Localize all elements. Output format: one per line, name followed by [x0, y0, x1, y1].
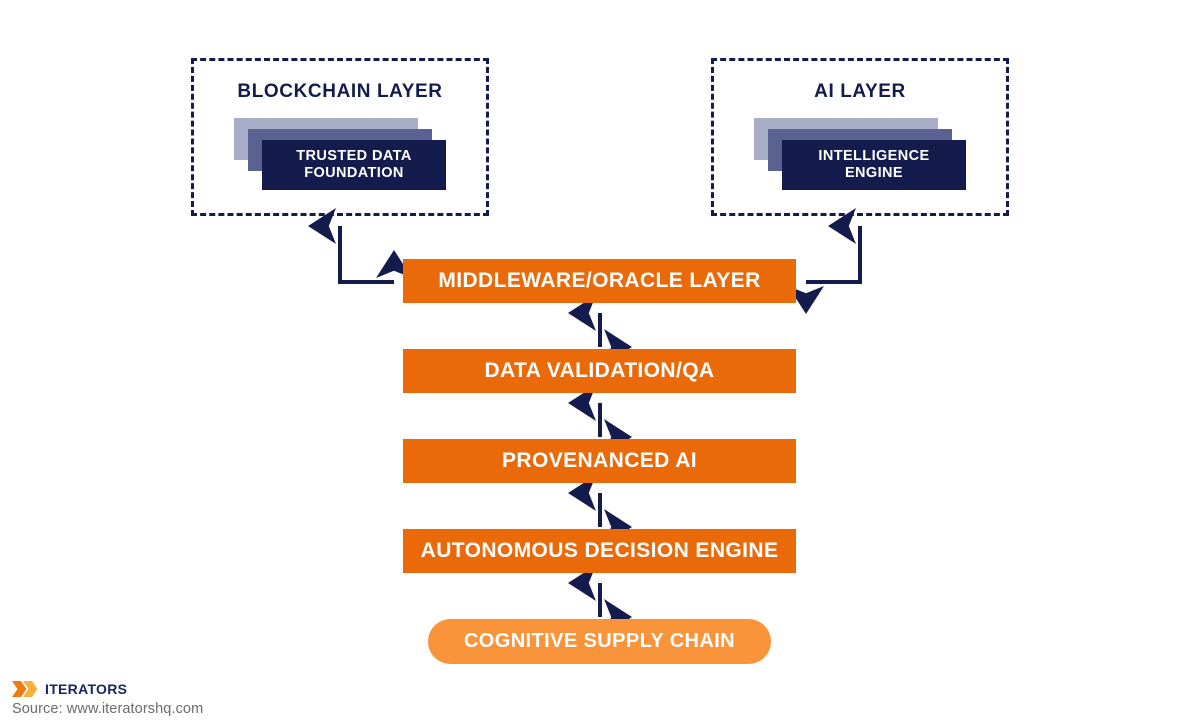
flow-box-provenanced-ai[interactable]: PROVENANCED AI	[403, 439, 796, 483]
flow-box-label: AUTONOMOUS DECISION ENGINE	[421, 539, 779, 563]
footer: ITERATORS Source: www.iteratorshq.com	[12, 679, 332, 717]
ai-card-stack: INTELLIGENCEENGINE	[754, 118, 966, 196]
trusted-data-foundation-card: TRUSTED DATAFOUNDATION	[262, 140, 446, 190]
flow-box-middleware-oracle-layer[interactable]: MIDDLEWARE/ORACLE LAYER	[403, 259, 796, 303]
flow-box-label: DATA VALIDATION/QA	[484, 359, 714, 383]
double-chevron-icon	[12, 680, 38, 698]
brand-name: ITERATORS	[45, 681, 127, 697]
connector-ai-to-middleware	[806, 226, 862, 284]
connector-blockchain-to-middleware	[338, 226, 394, 284]
ai-layer-group: AI LAYER INTELLIGENCEENGINE	[711, 58, 1009, 216]
intelligence-engine-label: INTELLIGENCEENGINE	[818, 148, 929, 182]
trusted-data-foundation-label: TRUSTED DATAFOUNDATION	[296, 148, 411, 182]
blockchain-layer-group: BLOCKCHAIN LAYER TRUSTED DATAFOUNDATION	[191, 58, 489, 216]
ai-layer-title: AI LAYER	[714, 81, 1006, 103]
diagram-canvas: BLOCKCHAIN LAYER TRUSTED DATAFOUNDATION …	[0, 0, 1200, 725]
flow-box-label: COGNITIVE SUPPLY CHAIN	[464, 630, 735, 653]
card-line-2: FOUNDATION	[304, 165, 404, 181]
flow-box-autonomous-decision-engine[interactable]: AUTONOMOUS DECISION ENGINE	[403, 529, 796, 573]
card-line-1: TRUSTED DATA	[296, 148, 411, 164]
blockchain-layer-title: BLOCKCHAIN LAYER	[194, 81, 486, 103]
intelligence-engine-card: INTELLIGENCEENGINE	[782, 140, 966, 190]
card-line-2: ENGINE	[845, 165, 903, 181]
brand-logo: ITERATORS	[12, 679, 332, 699]
card-line-1: INTELLIGENCE	[818, 148, 929, 164]
flow-box-cognitive-supply-chain[interactable]: COGNITIVE SUPPLY CHAIN	[428, 619, 771, 664]
flow-box-data-validation-qa[interactable]: DATA VALIDATION/QA	[403, 349, 796, 393]
blockchain-card-stack: TRUSTED DATAFOUNDATION	[234, 118, 446, 196]
source-attribution: Source: www.iteratorshq.com	[12, 701, 332, 717]
flow-box-label: PROVENANCED AI	[502, 449, 697, 473]
flow-box-label: MIDDLEWARE/ORACLE LAYER	[438, 269, 760, 293]
